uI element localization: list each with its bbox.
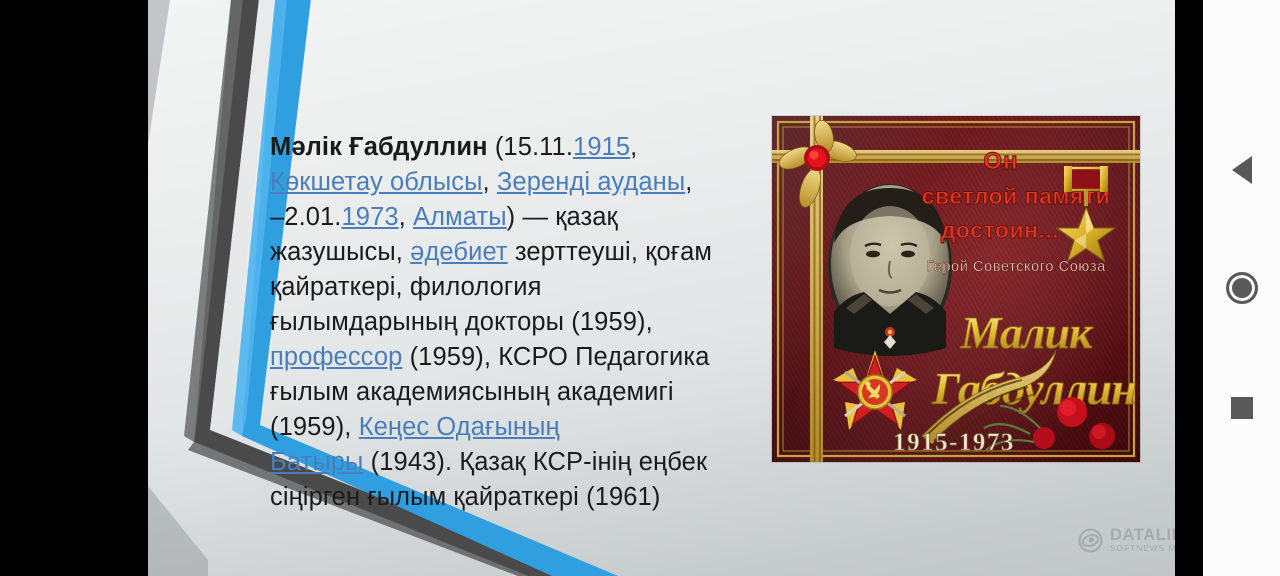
wiki-link[interactable]: 1915 [573, 133, 630, 161]
slide-body-text: Мәлік Ғабдуллин (15.11.1915,Көкшетау обл… [270, 130, 742, 515]
poster-artwork: Он светлой памяти достоин... Герой Совет… [772, 116, 1140, 462]
back-triangle-icon [1232, 156, 1252, 184]
wiki-link[interactable]: Кеңес Одағының [359, 413, 560, 441]
memorial-poster-image: Он светлой памяти достоин... Герой Совет… [772, 116, 1140, 462]
text-run: , [399, 203, 413, 231]
letterbox-bar-left [0, 0, 148, 576]
slide-text-line: Мәлік Ғабдуллин (15.11.1915, [270, 130, 742, 165]
slide-text-line: ғылым академиясының академигі [270, 375, 742, 410]
slide-text-line: жазушысы, әдебиет зерттеуші, қоғам [270, 235, 742, 270]
nav-back-button[interactable] [1203, 140, 1280, 200]
slide-text-line: сіңірген ғылым қайраткері (1961) [270, 480, 742, 515]
wiki-link[interactable]: Зеренді ауданы [497, 168, 685, 196]
poster-dates: 1915-1973 [893, 429, 1015, 456]
recent-apps-square-icon [1231, 397, 1253, 419]
wiki-link[interactable]: әдебиет [410, 238, 508, 266]
nav-home-button[interactable] [1203, 258, 1280, 318]
wiki-link[interactable]: Алматы [413, 203, 507, 231]
wiki-link[interactable]: Батыры [270, 448, 363, 476]
text-run: , [483, 168, 497, 196]
watermark-main-text: DATALIFE ENGINE [1110, 527, 1175, 544]
presentation-slide: Мәлік Ғабдуллин (15.11.1915,Көкшетау обл… [148, 0, 1175, 576]
watermark-sub-text: SOFTNEWS MEDIA GROUP [1110, 545, 1175, 553]
text-run: қайраткері, филология [270, 273, 542, 301]
slide-text-line: –2.01.1973, Алматы) — қазақ [270, 200, 742, 235]
text-run: (1943). Қазақ КСР-інің еңбек [363, 448, 707, 476]
text-run: (1959), КСРО Педагогика [402, 343, 709, 371]
slide-text-line: Батыры (1943). Қазақ КСР-інің еңбек [270, 445, 742, 480]
text-run: ғылымдарының докторы (1959), [270, 308, 653, 336]
letterbox-bar-right [1175, 0, 1203, 576]
slide-text-line: профессор (1959), КСРО Педагогика [270, 340, 742, 375]
device-screen: Мәлік Ғабдуллин (15.11.1915,Көкшетау обл… [0, 0, 1280, 576]
wiki-link[interactable]: Көкшетау облысы [270, 168, 483, 196]
slide-text-line: ғылымдарының докторы (1959), [270, 305, 742, 340]
poster-subtitle: Герой Советского Союза [926, 259, 1106, 275]
poster-headline-3: достоин... [941, 217, 1059, 243]
text-run: , [630, 133, 637, 161]
text-run: жазушысы, [270, 238, 410, 266]
poster-name-1: Малик [960, 307, 1094, 358]
datalife-eye-icon [1078, 528, 1103, 553]
text-run: , [685, 168, 692, 196]
poster-headline-1: Он [983, 148, 1018, 175]
wiki-link[interactable]: 1973 [342, 203, 399, 231]
text-run: (15.11. [488, 133, 573, 161]
home-circle-icon [1226, 272, 1258, 304]
nav-recent-apps-button[interactable] [1203, 378, 1280, 438]
text-run: ғылым академиясының академигі [270, 378, 674, 406]
slide-text-line: қайраткері, филология [270, 270, 742, 305]
slide-text-line: Көкшетау облысы, Зеренді ауданы, [270, 165, 742, 200]
text-run: зерттеуші, қоғам [508, 238, 712, 266]
android-navigation-bar [1203, 0, 1280, 576]
person-name: Мәлік Ғабдуллин [270, 133, 488, 161]
datalife-engine-watermark: DATALIFE ENGINE SOFTNEWS MEDIA GROUP [1078, 522, 1175, 558]
text-run: –2.01. [270, 203, 342, 231]
wiki-link[interactable]: профессор [270, 343, 402, 371]
text-run: (1959), [270, 413, 359, 441]
slide-text-line: (1959), Кеңес Одағының [270, 410, 742, 445]
text-run: ) — қазақ [507, 203, 618, 231]
text-run: сіңірген ғылым қайраткері (1961) [270, 483, 660, 511]
